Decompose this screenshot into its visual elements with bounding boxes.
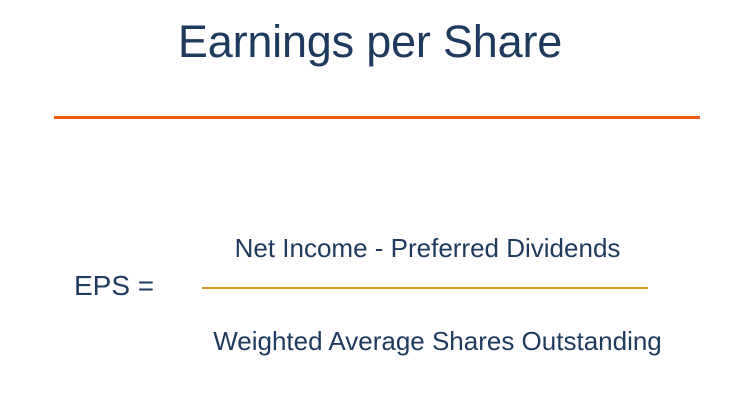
fraction-numerator: Net Income - Preferred Dividends: [160, 235, 695, 261]
title-block: Earnings per Share: [0, 18, 740, 67]
formula-left-label: EPS =: [74, 272, 154, 300]
fraction-bar: [202, 287, 648, 289]
formula-block: EPS = Net Income - Preferred Dividends W…: [0, 225, 740, 365]
page-title: Earnings per Share: [178, 18, 562, 67]
slide-canvas: Earnings per Share EPS = Net Income - Pr…: [0, 0, 740, 420]
fraction-denominator: Weighted Average Shares Outstanding: [160, 328, 715, 354]
title-accent-rule: [54, 116, 700, 119]
